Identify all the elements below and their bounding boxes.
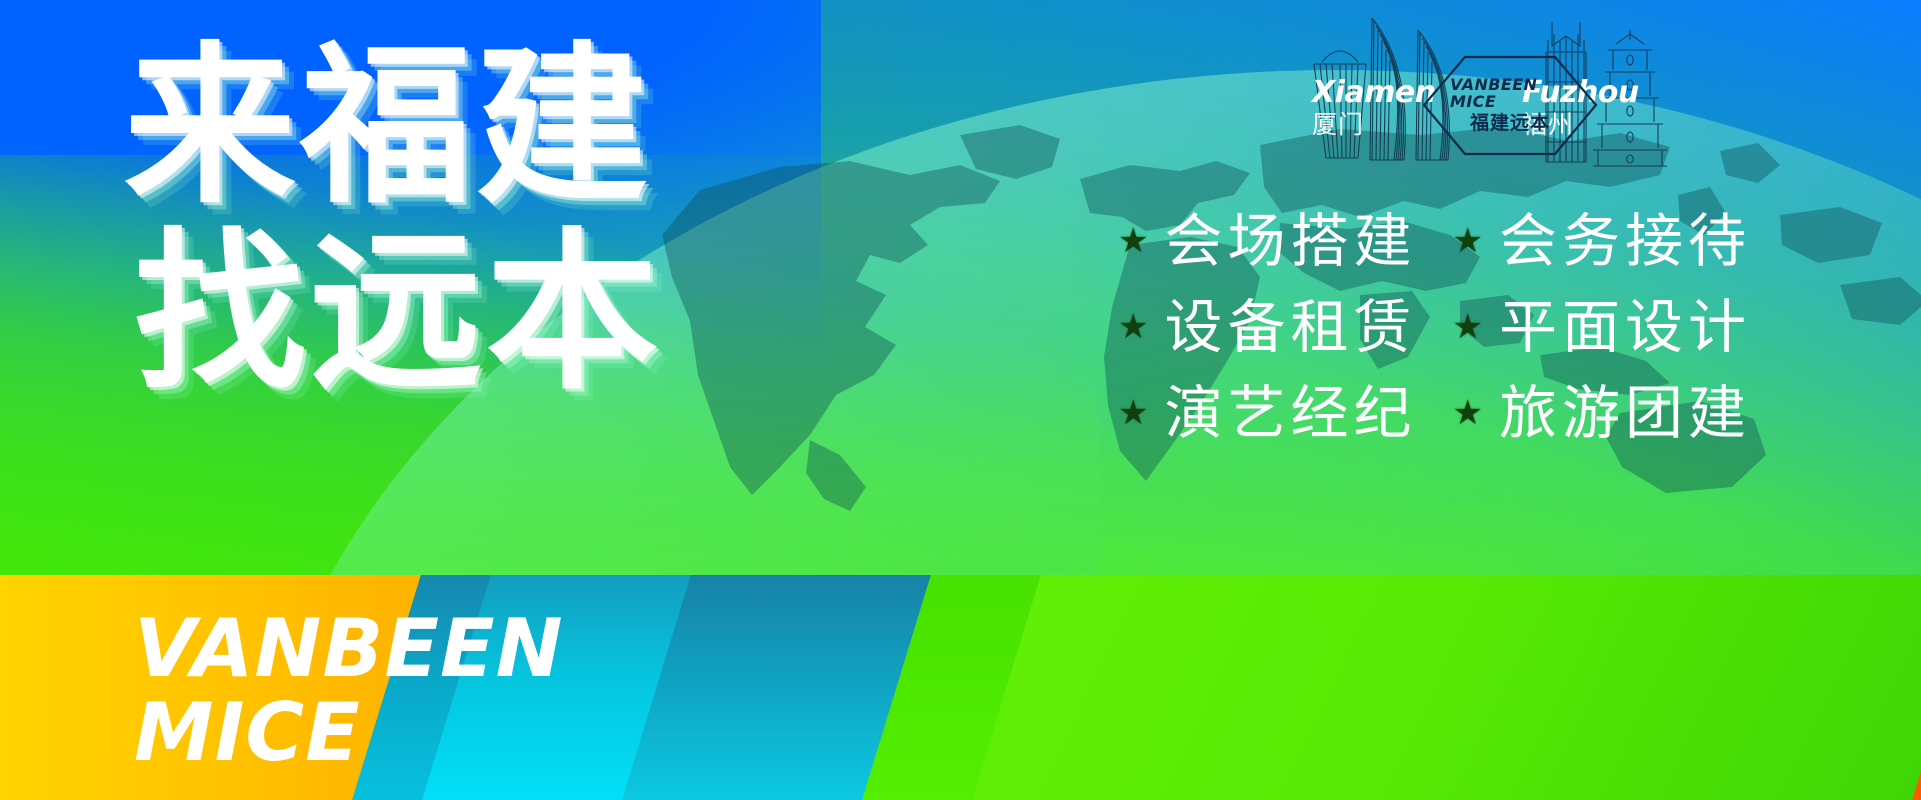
hexagon-outline-icon: [1420, 53, 1600, 158]
star-icon: ★: [1118, 396, 1148, 430]
banner-bottom-bar: VANBEEN MICE: [0, 575, 1921, 800]
wordmark-line-1: VANBEEN: [134, 607, 564, 691]
service-list: ★ 会场搭建 ★ 会务接待 ★ 设备租赁 ★ 平面设计 ★ 演艺经纪 ★ 旅游团: [1118, 203, 1751, 451]
city-label-xiamen: Xiamen 厦门: [1312, 78, 1436, 140]
banner-main-panel: 来福建 找远本 ★ 会场搭建 ★ 会务接待 ★ 设备租赁 ★ 平面设计 ★: [0, 0, 1921, 575]
city-name-cn-xiamen: 厦门: [1312, 110, 1436, 140]
star-icon: ★: [1453, 396, 1483, 430]
vanbeen-hexagon-logo: VANBEEN MICE 福建远本: [1420, 53, 1600, 158]
service-item-2: ★ 设备租赁: [1118, 289, 1417, 365]
promo-banner: 来福建 找远本 ★ 会场搭建 ★ 会务接待 ★ 设备租赁 ★ 平面设计 ★: [0, 0, 1921, 800]
star-icon: ★: [1118, 224, 1148, 258]
service-item-1: ★ 会务接待: [1453, 203, 1752, 279]
service-item-4: ★ 演艺经纪: [1118, 375, 1417, 451]
service-item-3: ★ 平面设计: [1453, 289, 1752, 365]
star-icon: ★: [1453, 224, 1483, 258]
service-label-5: 旅游团建: [1499, 375, 1751, 451]
service-label-1: 会务接待: [1499, 203, 1751, 279]
service-label-2: 设备租赁: [1164, 289, 1416, 365]
service-label-4: 演艺经纪: [1164, 375, 1416, 451]
headline-line-2: 找远本: [134, 220, 662, 406]
wordmark-line-2: MICE: [134, 691, 564, 775]
service-item-0: ★ 会场搭建: [1118, 203, 1417, 279]
city-landmark-cluster: Xiamen 厦门 Fuzhou 福州 VANBEEN MICE 福建远本: [1300, 0, 1720, 175]
service-label-0: 会场搭建: [1164, 203, 1416, 279]
service-item-5: ★ 旅游团建: [1453, 375, 1752, 451]
star-icon: ★: [1118, 310, 1148, 344]
city-name-en-xiamen: Xiamen: [1312, 78, 1436, 108]
star-icon: ★: [1453, 310, 1483, 344]
diagonal-band-green: [961, 575, 1921, 800]
service-label-3: 平面设计: [1499, 289, 1751, 365]
vanbeen-mice-wordmark: VANBEEN MICE: [134, 607, 564, 775]
headline-line-1: 来福建: [124, 34, 662, 220]
banner-headline: 来福建 找远本: [124, 34, 662, 406]
